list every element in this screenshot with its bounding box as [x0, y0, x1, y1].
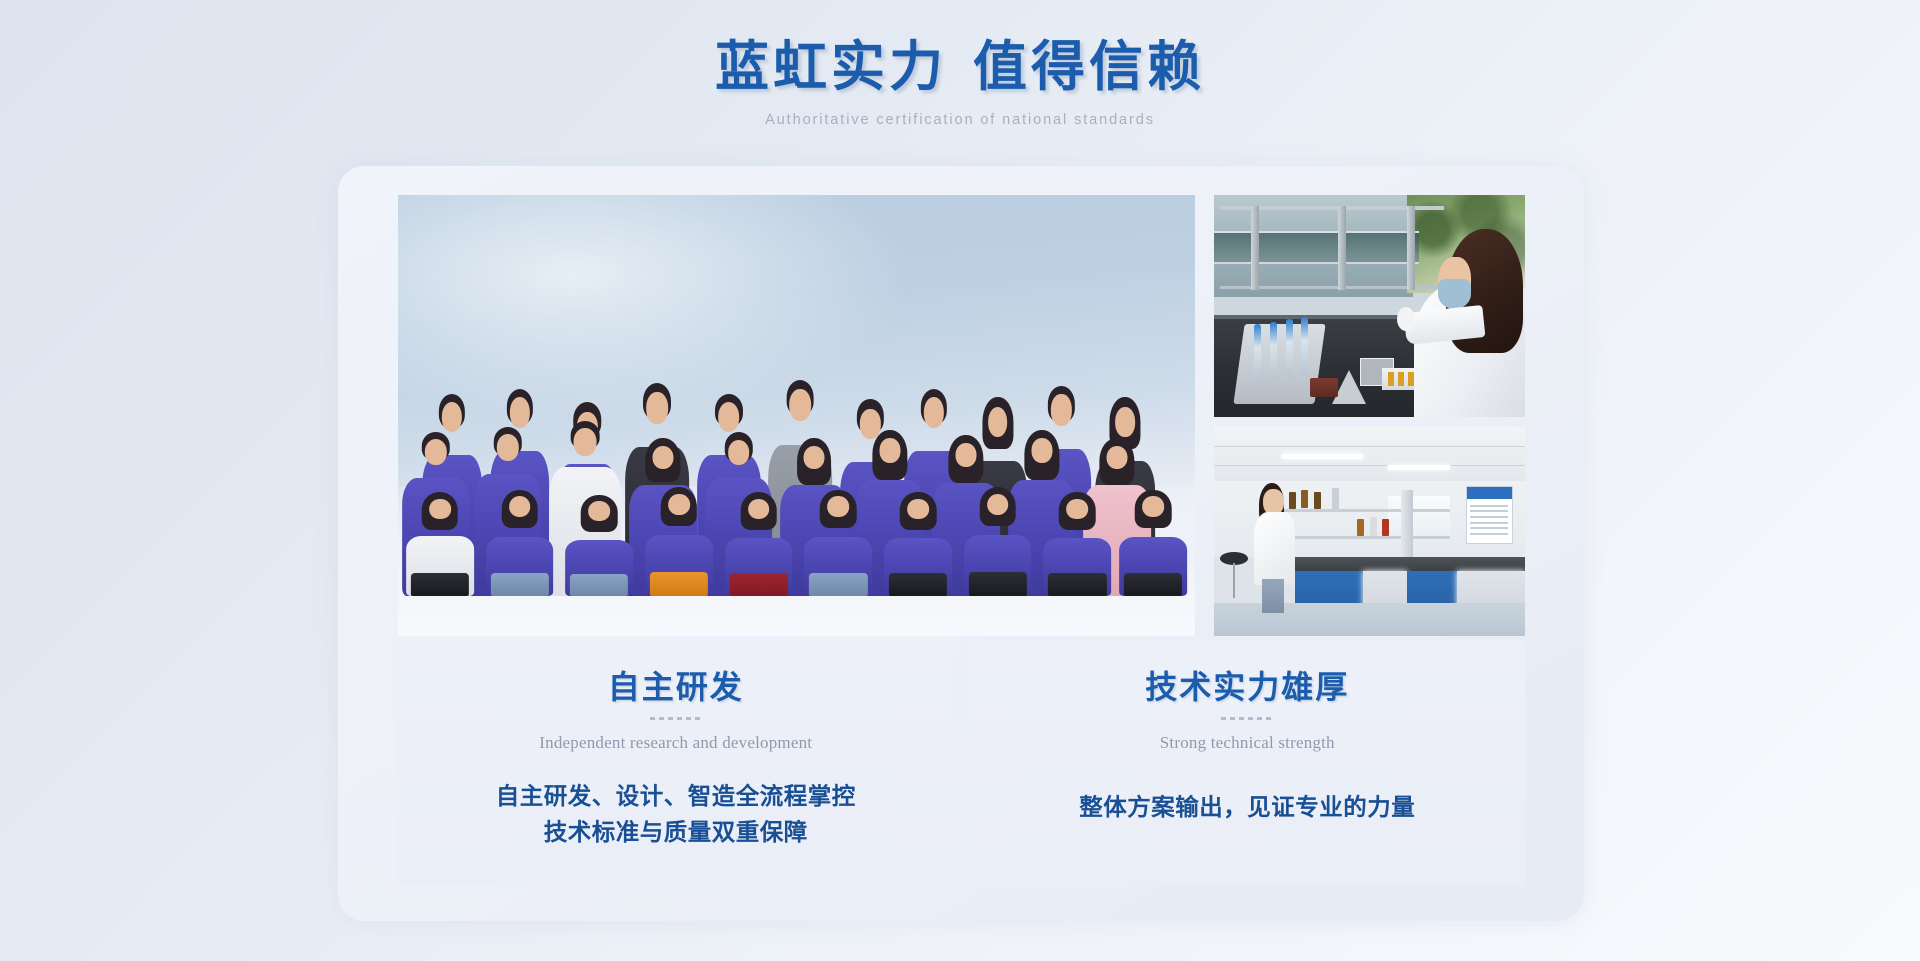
feature-cards: 自主研发 Independent research and developmen… [398, 641, 1525, 886]
technician-figure [1394, 217, 1525, 417]
lab-ceiling [1214, 427, 1525, 481]
researcher-lab-coat [1254, 512, 1294, 585]
ceiling-light-2 [1388, 465, 1450, 470]
lab-stool [1220, 552, 1248, 598]
feature-card-rnd-english: Independent research and development [398, 733, 954, 753]
safety-notice-poster [1466, 486, 1513, 545]
technician-glove [1397, 307, 1415, 331]
pipette-1 [1254, 324, 1261, 382]
team-group-photo [398, 195, 1195, 636]
page-header: 蓝虹实力值得信赖 Authoritative certification of … [0, 0, 1920, 128]
feature-card-technical[interactable]: 技术实力雄厚 Strong technical strength 整体方案输出，… [970, 641, 1526, 886]
feature-card-technical-description: 整体方案输出，见证专业的力量 [970, 790, 1526, 826]
page-title: 蓝虹实力值得信赖 [0, 34, 1920, 102]
lab-post-mid [1338, 206, 1346, 290]
reagent-bottle-g [1382, 519, 1389, 536]
lab-technician-scene [1214, 195, 1525, 417]
lab-glass-shelf [1214, 231, 1419, 264]
lab-technician-photo [1214, 195, 1525, 417]
reagent-bottle-d [1332, 488, 1339, 509]
poster-header [1467, 487, 1512, 499]
feature-card-rnd[interactable]: 自主研发 Independent research and developmen… [398, 641, 954, 886]
ceiling-light-1 [1282, 454, 1363, 459]
feature-card-technical-english: Strong technical strength [970, 733, 1526, 753]
pipette-3 [1286, 319, 1293, 377]
dashed-divider-icon [1221, 717, 1273, 720]
reagent-bottle-c [1314, 492, 1321, 509]
researcher-head [1263, 489, 1284, 515]
reagent-bottle-2 [1323, 378, 1338, 397]
page-title-part-1: 蓝虹实力 [715, 37, 947, 97]
reagent-bottle-f [1370, 517, 1377, 536]
pipette-4 [1301, 317, 1308, 375]
reagent-bottle-e [1357, 519, 1364, 536]
feature-card-rnd-description-line-2: 技术标准与质量双重保障 [398, 815, 954, 851]
laboratory-room-photo [1214, 427, 1525, 636]
content-panel: 自主研发 Independent research and developmen… [338, 166, 1584, 921]
page-title-part-2: 值得信赖 [973, 37, 1205, 97]
stool-pole [1233, 563, 1236, 598]
photo-gallery [398, 195, 1525, 636]
feature-card-technical-title: 技术实力雄厚 [970, 662, 1526, 708]
lab-counter-top [1264, 557, 1525, 572]
feature-card-rnd-description-line-1: 自主研发、设计、智造全流程掌控 [398, 779, 954, 815]
page-subtitle: Authoritative certification of national … [0, 112, 1920, 128]
laboratory-room-scene [1214, 427, 1525, 636]
technician-face-mask [1438, 279, 1471, 309]
feature-card-rnd-title: 自主研发 [398, 662, 954, 708]
ceiling-line-1 [1214, 446, 1525, 447]
reagent-bottle-b [1301, 490, 1308, 509]
feature-card-technical-description-line-1: 整体方案输出，见证专业的力量 [970, 790, 1526, 826]
lab-post-left [1251, 206, 1259, 290]
dashed-divider-icon [650, 717, 702, 720]
pipette-2 [1270, 322, 1277, 380]
ceiling-line-2 [1214, 465, 1525, 466]
feature-card-rnd-description: 自主研发、设计、智造全流程掌控 技术标准与质量双重保障 [398, 779, 954, 852]
researcher-figure [1254, 483, 1294, 613]
researcher-legs [1262, 579, 1285, 613]
team-photo-people [398, 323, 1195, 596]
